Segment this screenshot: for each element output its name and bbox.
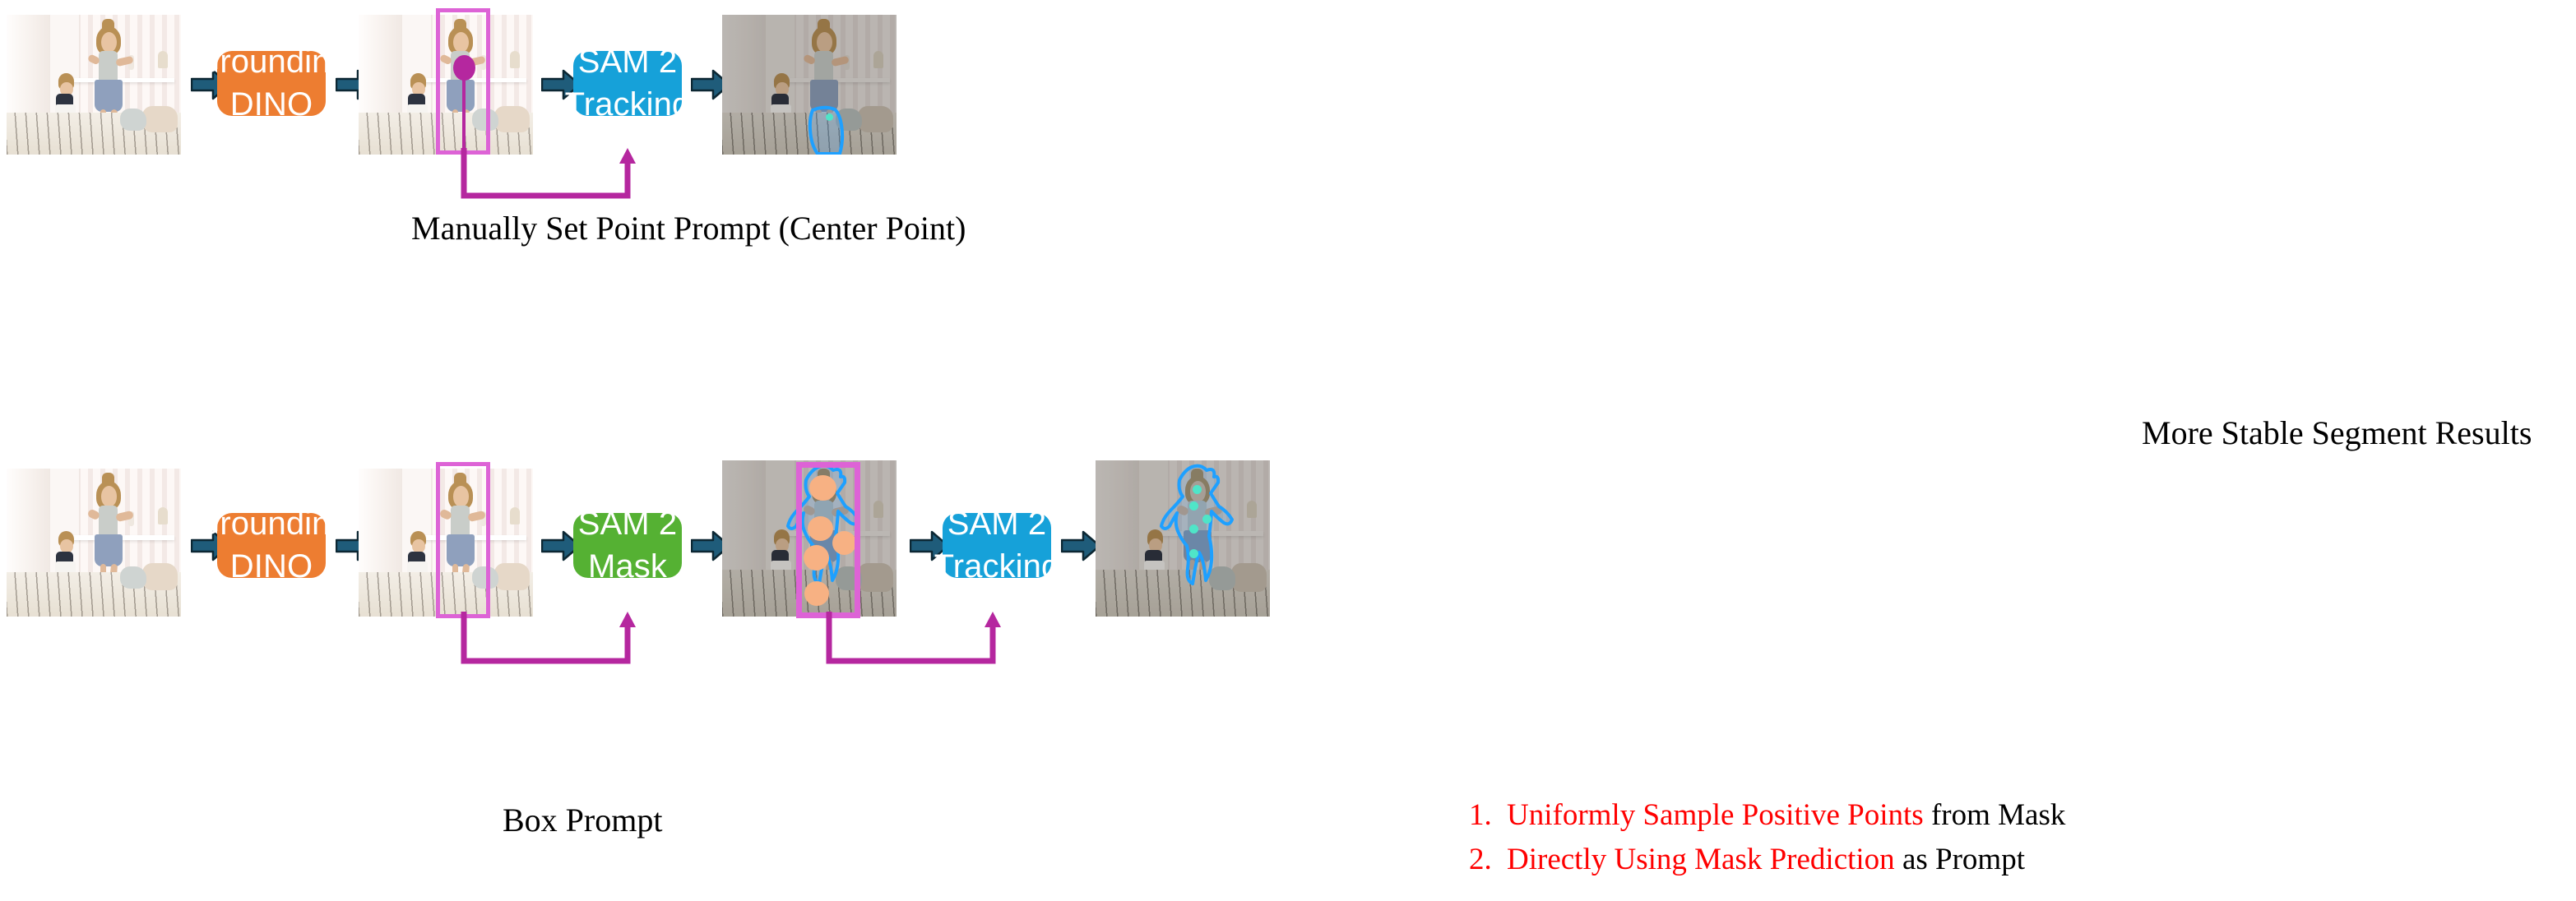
annotation-rest: from Mask	[1924, 798, 2066, 832]
row1-prompt-caption: Manually Set Point Prompt (Center Point)	[411, 209, 966, 247]
sampled-positive-point	[808, 516, 833, 541]
row2-sam2-mask-box[interactable]: SAM 2 Mask	[573, 513, 682, 578]
row1-grounding-dino-box[interactable]: Grounding DINO	[217, 51, 326, 116]
annotation-highlight: Directly Using Mask Prediction	[1507, 843, 1895, 876]
pillow	[120, 109, 146, 131]
row1-detection-frame	[359, 15, 533, 155]
process-label-line: Tracking	[934, 546, 1060, 588]
curtain	[359, 469, 405, 584]
row2-input-frame	[7, 469, 181, 617]
annotation-highlight: Uniformly Sample Positive Points	[1507, 798, 1924, 832]
annotation-item: 1.Uniformly Sample Positive Points from …	[1469, 797, 2065, 833]
pillow	[836, 566, 862, 590]
row2-prompt-caption: Box Prompt	[503, 801, 662, 839]
pillow	[142, 563, 177, 589]
curtain	[722, 460, 769, 582]
pillow	[120, 566, 146, 589]
result-prompt-point	[1189, 524, 1198, 534]
sampled-positive-point	[804, 545, 829, 571]
center-point-prompt	[453, 55, 475, 81]
process-label-line: Tracking	[565, 84, 691, 126]
pillow	[858, 106, 892, 132]
shelf-object	[1247, 501, 1257, 518]
row2-grounding-dino-box[interactable]: Grounding DINO	[217, 513, 326, 578]
result-prompt-point	[1189, 549, 1198, 558]
sampled-positive-point	[832, 531, 856, 555]
shelf-object	[510, 51, 520, 68]
row2-mask-prompt-connector	[816, 612, 1013, 671]
pillow	[1209, 566, 1235, 590]
process-label-line: Grounding	[194, 503, 349, 545]
pillow	[858, 563, 892, 591]
annotation-item: 2.Directly Using Mask Prediction as Prom…	[1469, 842, 2065, 877]
annotation-number: 1.	[1469, 797, 1507, 833]
pillow	[142, 106, 177, 132]
row2-annotation-list: 1.Uniformly Sample Positive Points from …	[1469, 797, 2065, 886]
curtain	[1096, 460, 1142, 582]
row2-box-prompt-connector	[451, 612, 648, 671]
row1-input-frame	[7, 15, 181, 155]
curtain	[7, 469, 53, 584]
shelf-object	[158, 507, 168, 524]
pillow	[836, 109, 862, 131]
annotation-number: 2.	[1469, 842, 1507, 877]
shelf-object	[158, 51, 168, 68]
curtain	[722, 15, 769, 124]
pillow	[494, 563, 529, 589]
row2-result-caption: More Stable Segment Results	[2142, 414, 2532, 452]
sampled-positive-point	[809, 475, 836, 501]
process-label-line: DINO	[230, 546, 313, 588]
row1-point-prompt-connector	[451, 148, 648, 206]
pillow	[494, 106, 529, 132]
shelf-object	[873, 501, 883, 518]
center-point-stem	[462, 71, 466, 155]
row2-output-frame	[1096, 460, 1270, 617]
result-prompt-point	[826, 113, 833, 121]
process-label-line: DINO	[230, 84, 313, 126]
pillow	[472, 566, 498, 589]
row1-sam2-tracking-box[interactable]: SAM 2 Tracking	[573, 51, 682, 116]
curtain	[359, 15, 405, 124]
process-label-line: Mask	[588, 546, 667, 588]
flow-arrow	[1061, 530, 1100, 561]
shelf-object	[873, 51, 883, 68]
row2-mask-frame	[722, 460, 897, 617]
diagram-canvas: Grounding DINO	[0, 0, 2576, 901]
result-prompt-point	[1189, 501, 1198, 511]
sampled-positive-point	[804, 581, 829, 606]
annotation-rest: as Prompt	[1895, 843, 2025, 876]
row2-detection-frame	[359, 469, 533, 617]
process-label-line: Grounding	[194, 41, 349, 83]
pillow	[1231, 563, 1266, 591]
result-prompt-point	[1193, 485, 1202, 494]
curtain	[7, 15, 53, 124]
row2-sam2-tracking-box[interactable]: SAM 2 Tracking	[943, 513, 1051, 578]
process-label-line: SAM 2	[947, 503, 1047, 545]
shelf-object	[510, 507, 520, 524]
pillow	[472, 109, 498, 131]
process-label-line: SAM 2	[578, 503, 678, 545]
process-label-line: SAM 2	[578, 41, 678, 83]
row1-output-frame	[722, 15, 897, 155]
result-prompt-point	[1202, 515, 1212, 524]
